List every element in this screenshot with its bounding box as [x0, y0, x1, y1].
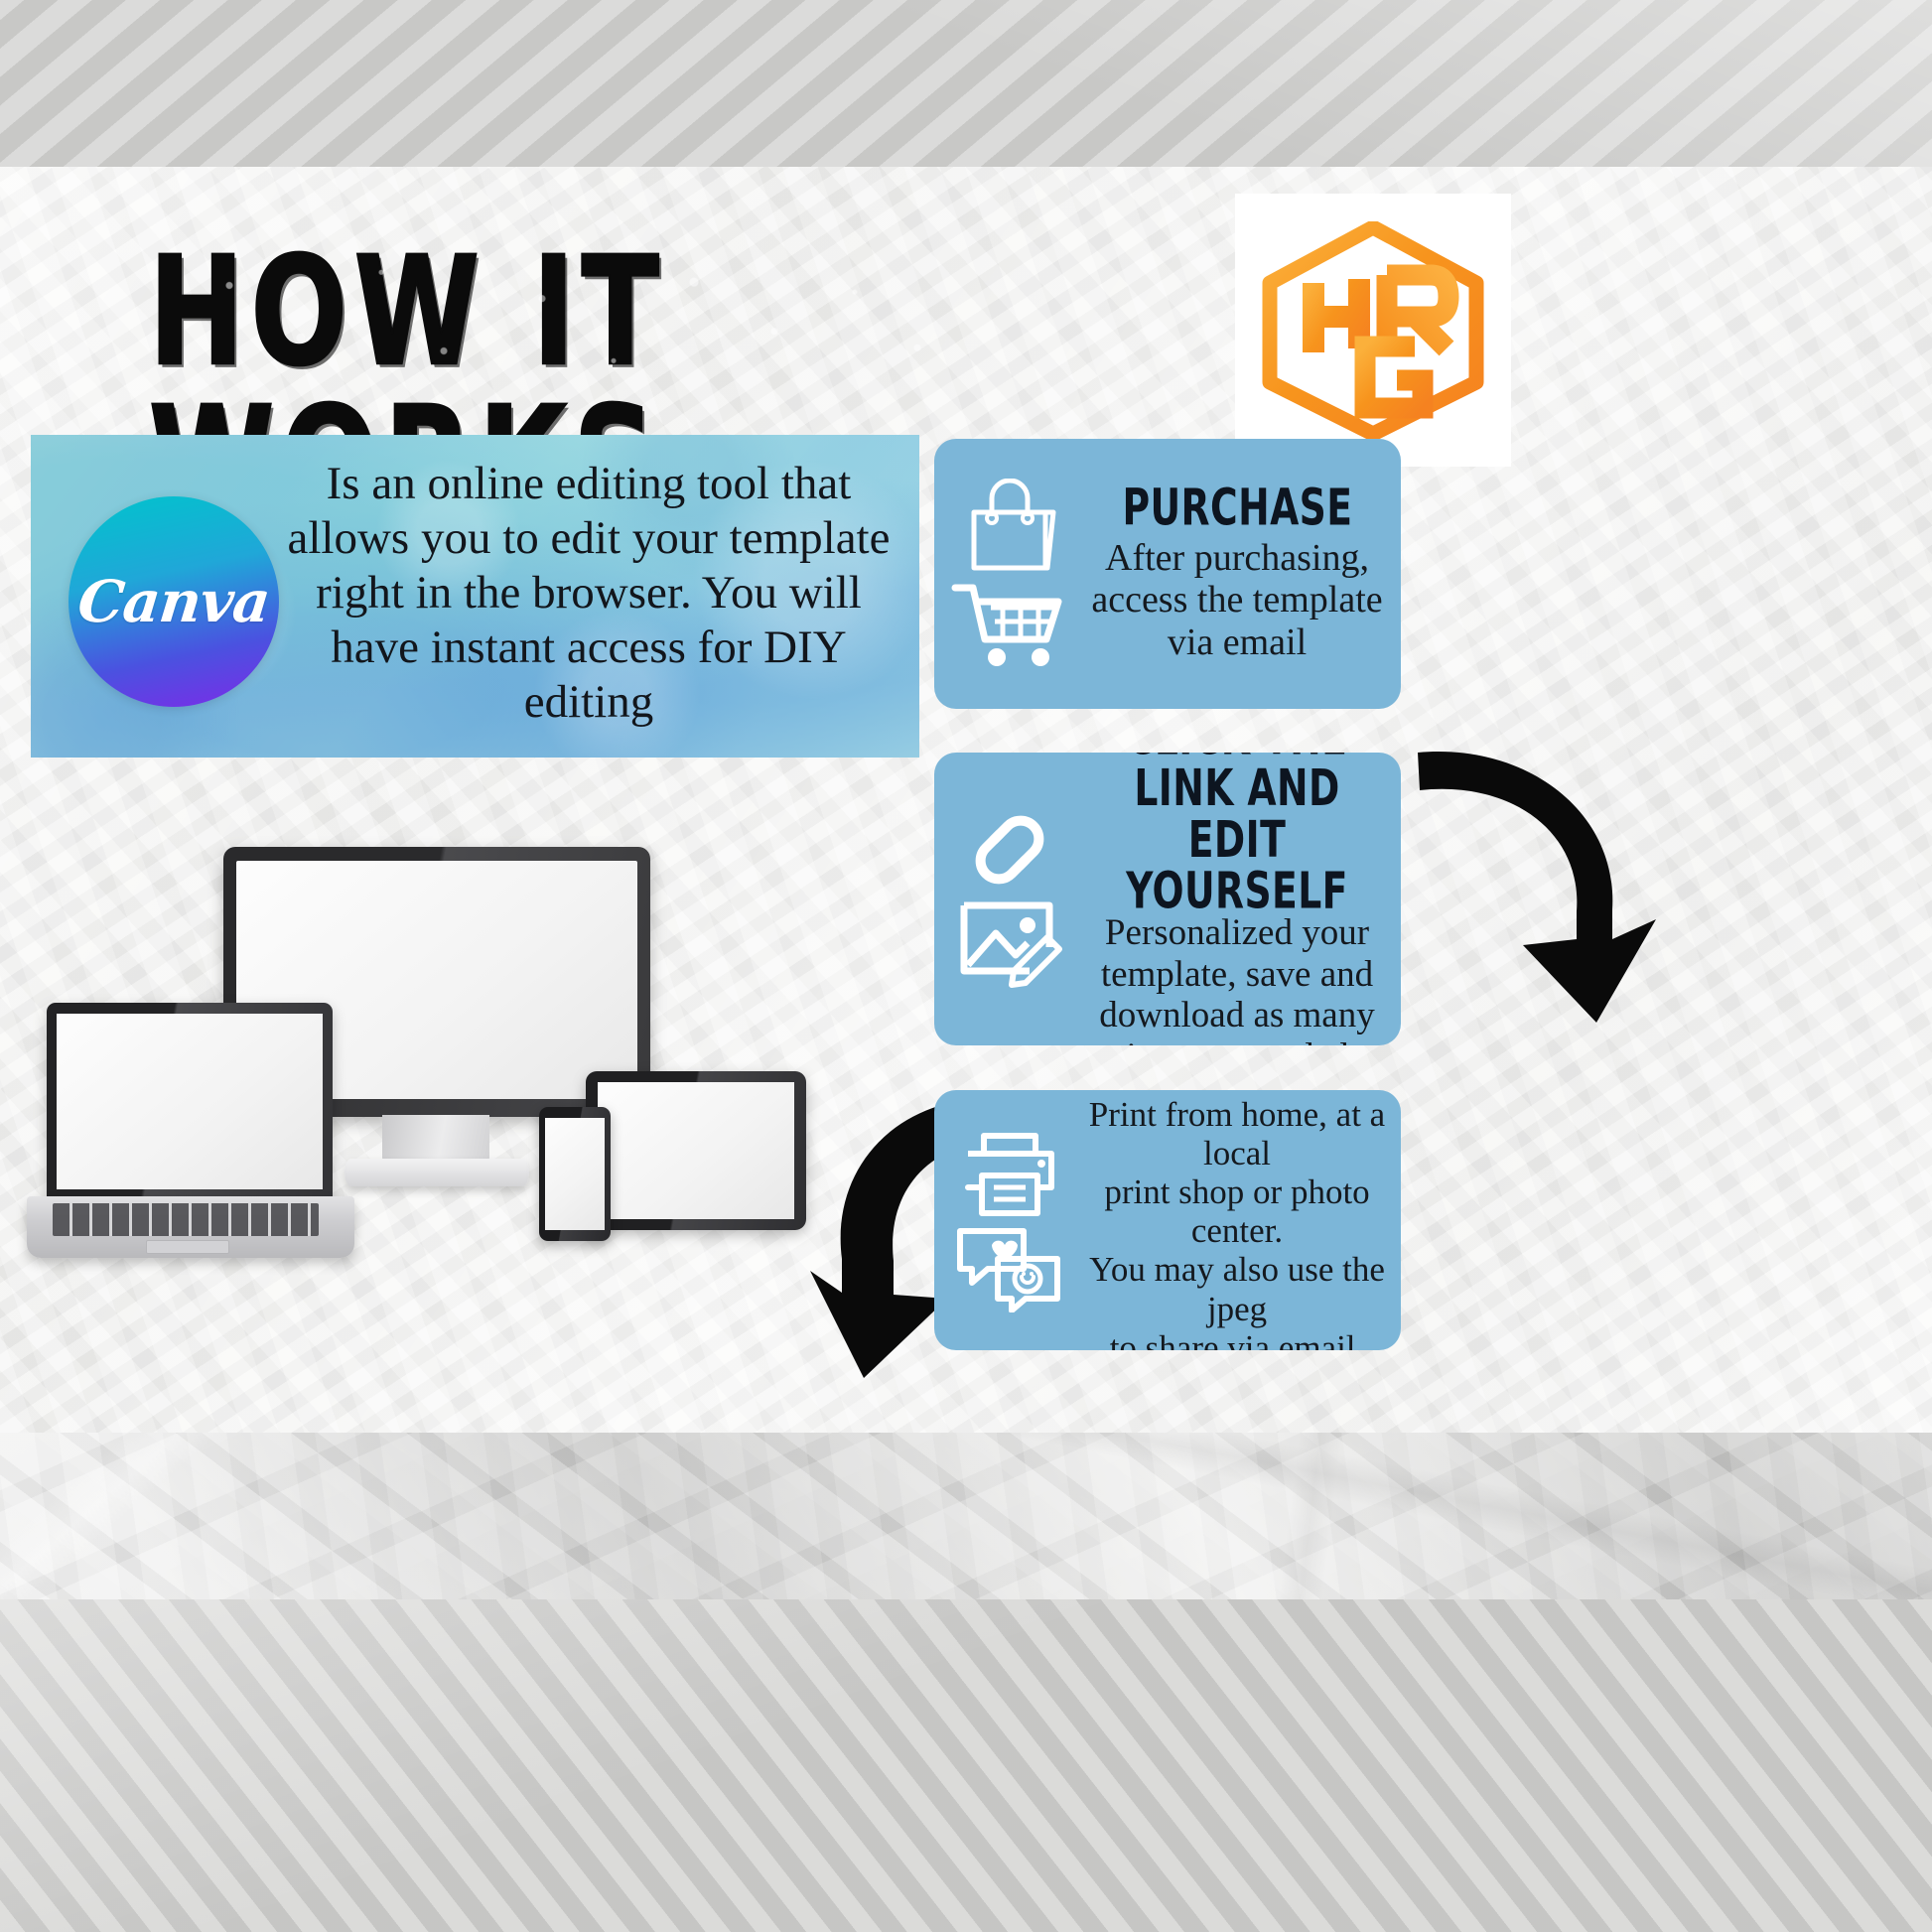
brand-logo-box	[1235, 194, 1511, 467]
hrg-cube-logo-icon	[1256, 221, 1490, 440]
canva-description-banner: Canva Is an online editing tool that all…	[31, 435, 919, 758]
step-card-purchase[interactable]: PURCHASE After purchasing, access the te…	[934, 439, 1401, 709]
monitor-stand-neck	[382, 1115, 489, 1163]
image-edit-icon	[954, 894, 1065, 989]
top-border-band	[0, 0, 1932, 167]
canva-logo-icon: Canva	[69, 496, 279, 707]
step-3-text-column: PRINT OR SHARE Print from home, at a loc…	[1083, 1090, 1391, 1350]
phone-mockup	[539, 1107, 611, 1241]
tablet-mockup	[586, 1071, 806, 1230]
step-3-body: Print from home, at a local print shop o…	[1083, 1095, 1391, 1350]
step-1-text-column: PURCHASE After purchasing, access the te…	[1083, 439, 1391, 709]
canva-description-text: Is an online editing tool that allows yo…	[275, 457, 902, 730]
arrow-purchase-to-edit	[1408, 735, 1656, 1042]
laptop-mockup	[47, 1003, 333, 1201]
shopping-cart-icon	[951, 578, 1068, 669]
step-1-icon-column	[934, 439, 1085, 709]
shopping-bag-icon	[958, 479, 1061, 574]
step-card-print[interactable]: PRINT OR SHARE Print from home, at a loc…	[934, 1090, 1401, 1350]
bottom-border-band	[0, 1599, 1932, 1932]
device-mockups-group	[25, 839, 898, 1375]
tablet-screen	[598, 1082, 794, 1219]
step-2-body: Personalized your template, save and dow…	[1099, 912, 1374, 1045]
step-3-heading: PRINT OR SHARE	[1111, 1090, 1363, 1093]
share-chat-icon	[954, 1221, 1065, 1312]
laptop-trackpad	[146, 1240, 229, 1254]
step-2-text-column: CLICK THE LINK AND EDIT YOURSELF Persona…	[1083, 753, 1391, 1045]
laptop-screen	[57, 1014, 323, 1189]
step-2-icon-column	[934, 753, 1085, 1045]
canva-wordmark: Canva	[74, 568, 272, 635]
step-1-body: After purchasing, access the template vi…	[1091, 537, 1382, 664]
step-3-icon-column	[934, 1090, 1085, 1350]
monitor-stand-base	[345, 1159, 529, 1186]
step-card-edit[interactable]: CLICK THE LINK AND EDIT YOURSELF Persona…	[934, 753, 1401, 1045]
step-2-heading: CLICK THE LINK AND EDIT YOURSELF	[1111, 753, 1363, 916]
link-chain-icon	[954, 810, 1065, 890]
phone-screen	[545, 1118, 605, 1230]
step-1-heading: PURCHASE	[1122, 482, 1352, 533]
laptop-keyboard-base	[27, 1196, 354, 1258]
infographic-canvas: HOW IT WORKS	[0, 0, 1932, 1932]
laptop-keys	[53, 1203, 319, 1236]
printer-icon	[956, 1128, 1063, 1217]
